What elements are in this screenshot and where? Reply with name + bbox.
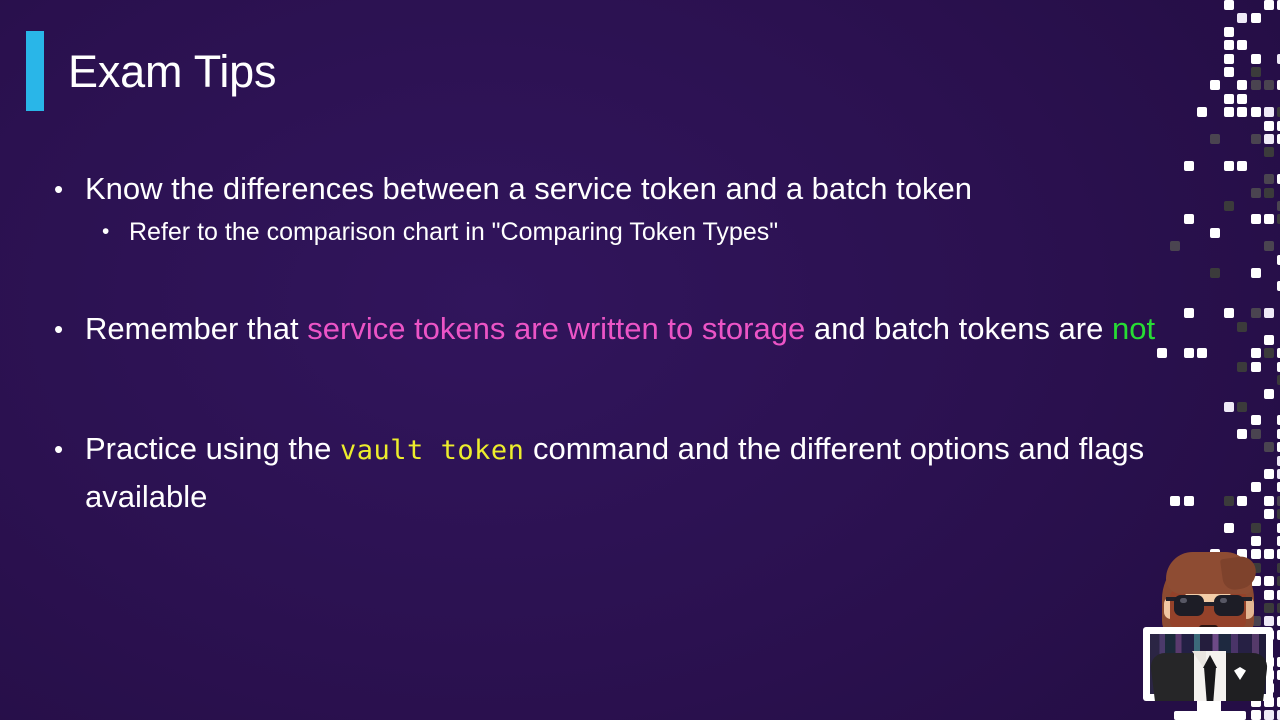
pixel-square [1237, 322, 1247, 332]
sunglasses-icon [1174, 595, 1204, 616]
pixel-square [1197, 348, 1207, 358]
pixel-square [1264, 241, 1274, 251]
pixel-square [1251, 107, 1261, 117]
pixel-square [1264, 442, 1274, 452]
pixel-square [1197, 107, 1207, 117]
pixel-square [1264, 335, 1274, 345]
pixel-square [1264, 134, 1274, 144]
pixel-square [1264, 174, 1274, 184]
pixel-square [1237, 362, 1247, 372]
pixel-square [1251, 13, 1261, 23]
pixel-square [1251, 348, 1261, 358]
pixel-square [1251, 134, 1261, 144]
pixel-square [1264, 389, 1274, 399]
pixel-square [1264, 147, 1274, 157]
text-segment-highlight-pink: service tokens are written to storage [307, 311, 805, 346]
pixel-square [1251, 415, 1261, 425]
pixel-square [1264, 107, 1274, 117]
pixel-square [1237, 107, 1247, 117]
bullet-text: Practice using the vault token command a… [85, 426, 1174, 520]
pixel-square [1224, 54, 1234, 64]
pixel-square [1224, 308, 1234, 318]
pixel-square [1264, 0, 1274, 10]
pixel-square [1224, 201, 1234, 211]
pixel-square [1264, 121, 1274, 131]
title-accent-bar [26, 31, 44, 111]
pixel-square [1184, 496, 1194, 506]
pixel-square [1251, 523, 1261, 533]
slide-title-row: Exam Tips [26, 30, 276, 112]
avatar-tie-knot-shape [1203, 655, 1217, 668]
pixel-square [1237, 402, 1247, 412]
pixel-square [1264, 308, 1274, 318]
pixel-square [1224, 107, 1234, 117]
presenter-avatar [1140, 545, 1280, 720]
pixel-square [1224, 523, 1234, 533]
pixel-square [1264, 188, 1274, 198]
pixel-square [1251, 80, 1261, 90]
pixel-square [1251, 308, 1261, 318]
pixel-square [1210, 268, 1220, 278]
pixel-square [1224, 67, 1234, 77]
pixel-square [1237, 13, 1247, 23]
pixel-square [1224, 0, 1234, 10]
pixel-square [1224, 27, 1234, 37]
pixel-square [1210, 134, 1220, 144]
pixel-square [1264, 509, 1274, 519]
pixel-square [1237, 80, 1247, 90]
pixel-square [1251, 362, 1261, 372]
text-segment-code: vault token [340, 435, 524, 466]
pixel-square [1264, 214, 1274, 224]
pixel-square [1210, 228, 1220, 238]
text-segment-plain: Remember that [85, 311, 307, 346]
pixel-square [1184, 308, 1194, 318]
pixel-square [1264, 469, 1274, 479]
page-title: Exam Tips [68, 49, 276, 94]
pixel-square [1184, 348, 1194, 358]
pixel-square [1264, 348, 1274, 358]
bullet-text: Know the differences between a service t… [85, 166, 1174, 212]
text-segment-plain: and batch tokens are [805, 311, 1112, 346]
pixel-square [1264, 496, 1274, 506]
pixel-square [1237, 94, 1247, 104]
bullet-marker-icon: • [54, 306, 85, 352]
pixel-square [1237, 161, 1247, 171]
pixel-square [1251, 67, 1261, 77]
sunglasses-icon [1214, 595, 1244, 616]
bullet-marker-icon: • [54, 166, 85, 212]
bullet-marker-icon: • [54, 426, 85, 472]
pixel-square [1251, 214, 1261, 224]
pixel-square [1264, 80, 1274, 90]
pixel-square [1251, 429, 1261, 439]
avatar-lens-glint-right [1220, 598, 1227, 603]
pixel-square [1224, 402, 1234, 412]
pixel-square [1224, 40, 1234, 50]
bullet-marker-icon: • [102, 212, 129, 252]
text-segment-plain: Practice using the [85, 431, 340, 466]
pixel-square [1251, 54, 1261, 64]
pixel-square [1184, 214, 1194, 224]
spacer [54, 352, 1174, 426]
pixel-square [1210, 80, 1220, 90]
bullet-item-1: • Know the differences between a service… [54, 166, 1174, 212]
avatar-lens-glint-left [1180, 598, 1187, 603]
bullet-item-2: • Remember that service tokens are writt… [54, 306, 1174, 352]
pixel-square [1251, 188, 1261, 198]
slide: Exam Tips • Know the differences between… [0, 0, 1280, 720]
pixel-square [1237, 429, 1247, 439]
bullet-text: Refer to the comparison chart in "Compar… [129, 212, 1174, 252]
monitor-stand-neck [1197, 701, 1221, 711]
pixel-square [1251, 268, 1261, 278]
slide-body: • Know the differences between a service… [54, 166, 1174, 520]
monitor-stand-base [1174, 711, 1246, 720]
pixel-square [1237, 40, 1247, 50]
bullet-item-1-sub-1: • Refer to the comparison chart in "Comp… [54, 212, 1174, 252]
pixel-square [1224, 94, 1234, 104]
bullet-text: Remember that service tokens are written… [85, 306, 1174, 352]
spacer [54, 252, 1174, 306]
bullet-item-3: • Practice using the vault token command… [54, 426, 1174, 520]
text-segment-highlight-green: not [1112, 311, 1155, 346]
pixel-square [1184, 161, 1194, 171]
pixel-square [1251, 482, 1261, 492]
pixel-square [1224, 161, 1234, 171]
pixel-square [1224, 496, 1234, 506]
pixel-square [1237, 496, 1247, 506]
